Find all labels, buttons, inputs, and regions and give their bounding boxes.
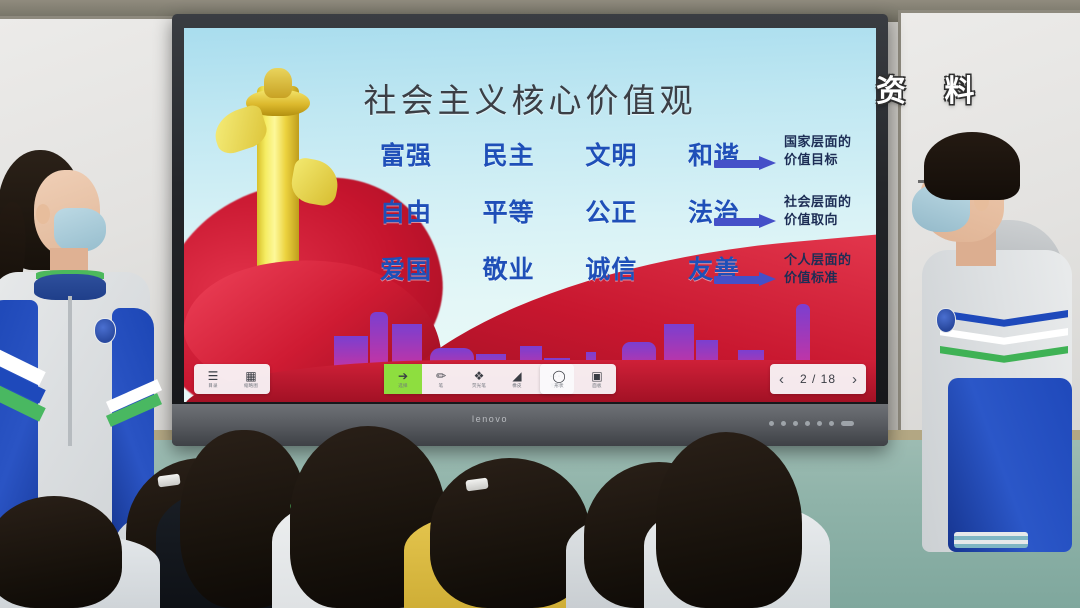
value-row-national: 富强 民主 文明 和谐 [380,136,740,172]
slide-title: 社会主义核心价值观 [184,74,876,122]
tool-label: 面板 [592,383,601,389]
value-item: 爱国 [380,250,432,286]
tool-label: 笔 [439,383,444,389]
arrow-personal [714,272,776,285]
tool-label: 荧光笔 [472,383,486,389]
value-item: 平等 [483,193,535,229]
page-indicator: 2 / 18 [800,372,836,386]
slide-toolbar-extra[interactable]: ◯ 形状 ▣ 面板 [540,364,616,394]
annotation-national: 国家层面的 价值目标 [784,134,852,169]
eraser-icon[interactable]: ◢ 橡皮 [498,364,536,394]
chevron-stripe-white [940,328,1068,348]
classroom-scene: 社会主义核心价值观 富强 民主 文明 和谐 自由 平等 公正 法治 爱国 敬业 [0,0,1080,608]
value-row-personal: 爱国 敬业 诚信 友善 [380,250,740,286]
value-item: 公正 [585,193,637,229]
value-item: 自由 [380,193,432,229]
panel-icon[interactable]: ▣ 面板 [578,364,616,394]
hair [924,132,1020,200]
cursor-select-icon[interactable]: ➔ 选择 [384,364,422,394]
arrow-social [714,214,776,227]
ear [36,204,50,224]
head [0,496,122,608]
bezel-sensor [841,421,854,426]
shapes-icon[interactable]: ◯ 形状 [540,364,578,394]
sleeve-cuff [954,532,1028,548]
chevron-left-icon[interactable]: ‹ [779,371,784,388]
school-badge [936,308,956,333]
face-mask [54,208,106,252]
watermark-label: 资 料 [876,66,988,110]
arrow-national [714,156,776,169]
value-item: 诚信 [585,250,637,286]
standing-student-right [908,132,1080,552]
tool-label: 橡皮 [512,383,521,389]
annotation-line: 个人层面的 [784,252,852,270]
annotation-line: 国家层面的 [784,134,852,152]
value-item: 文明 [585,136,637,172]
tool-label: 形状 [554,383,563,389]
slide-pager[interactable]: ‹ 2 / 18 › [770,364,866,394]
seated-student-6 [646,402,826,608]
annotation-line: 社会层面的 [784,194,852,212]
head [656,432,802,608]
annotation-social: 社会层面的 价值取向 [784,194,852,229]
chevron-stripe-blue [940,310,1068,330]
chevron-stripe-green [940,346,1068,366]
annotation-line: 价值取向 [784,212,852,230]
value-item: 民主 [483,136,535,172]
value-row-social: 自由 平等 公正 法治 [380,193,740,229]
jacket-zipper [68,296,72,446]
jacket-lower-blue [948,378,1072,552]
seated-student-7 [0,478,150,608]
bezel-button[interactable] [829,421,834,426]
chevron-right-icon[interactable]: › [852,371,857,388]
tool-label: 选择 [398,383,407,389]
marker-icon[interactable]: ❖ 荧光笔 [460,364,498,394]
annotation-line: 价值标准 [784,270,852,288]
annotation-personal: 个人层面的 价值标准 [784,252,852,287]
value-item: 富强 [380,136,432,172]
annotation-line: 价值目标 [784,152,852,170]
school-badge [94,318,116,344]
pen-icon[interactable]: ✏ 笔 [422,364,460,394]
presentation-slide[interactable]: 社会主义核心价值观 富强 民主 文明 和谐 自由 平等 公正 法治 爱国 敬业 [184,28,876,402]
core-values-list: 富强 民主 文明 和谐 自由 平等 公正 法治 爱国 敬业 诚信 友善 [380,136,740,307]
value-item: 敬业 [483,250,535,286]
